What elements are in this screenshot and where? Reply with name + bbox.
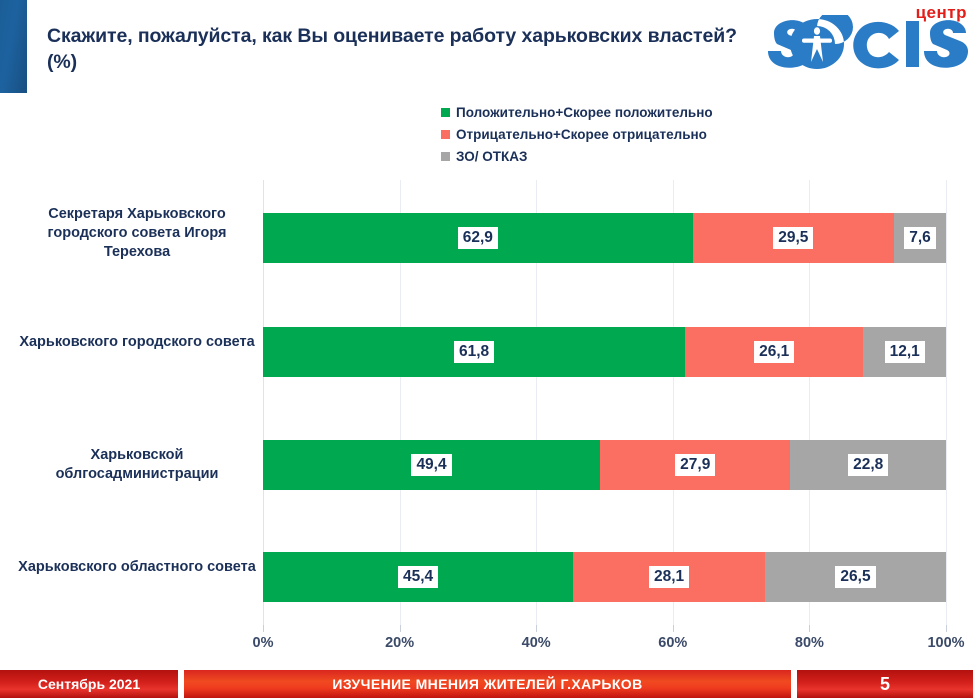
- x-tick-mark: [536, 625, 537, 632]
- decorative-accent-bar: [0, 0, 29, 93]
- footer-date: Сентябрь 2021: [0, 670, 178, 698]
- category-label-3: Харьковского областного совета: [18, 558, 256, 577]
- plot-area: 62,929,57,661,826,112,149,427,922,845,42…: [263, 180, 946, 625]
- slide-footer: Сентябрь 2021 ИЗУЧЕНИЕ МНЕНИЯ ЖИТЕЛЕЙ Г.…: [0, 668, 973, 700]
- x-tick-mark: [673, 625, 674, 632]
- bar-value-label: 29,5: [773, 227, 813, 249]
- x-tick-label: 80%: [795, 635, 824, 651]
- bar-value-label: 45,4: [398, 566, 438, 588]
- bar-value-label: 49,4: [411, 454, 451, 476]
- x-tick-label: 0%: [253, 635, 274, 651]
- category-axis-labels: Секретаря Харьковского городского совета…: [18, 180, 256, 625]
- page-title: Скажите, пожалуйста, как Вы оцениваете р…: [47, 24, 747, 76]
- bar-row: 61,826,112,1: [263, 327, 946, 377]
- legend-item-negative[interactable]: Отрицательно+Скорее отрицательно: [441, 124, 781, 145]
- bar-value-label: 26,1: [754, 341, 794, 363]
- legend-item-noanswer[interactable]: ЗО/ ОТКАЗ: [441, 146, 781, 167]
- x-tick-mark: [946, 625, 947, 632]
- bar-segment[interactable]: 26,5: [765, 552, 946, 602]
- footer-study-title: ИЗУЧЕНИЕ МНЕНИЯ ЖИТЕЛЕЙ Г.ХАРЬКОВ: [184, 670, 791, 698]
- slide-canvas: Скажите, пожалуйста, как Вы оцениваете р…: [0, 0, 973, 700]
- bar-value-label: 28,1: [649, 566, 689, 588]
- socis-logo: центр: [766, 2, 971, 74]
- bar-row: 49,427,922,8: [263, 440, 946, 490]
- x-tick-mark: [400, 625, 401, 632]
- legend-swatch-positive: [441, 108, 450, 117]
- bar-segment[interactable]: 28,1: [573, 552, 765, 602]
- legend-item-positive[interactable]: Положительно+Скорее положительно: [441, 102, 781, 123]
- bar-value-label: 7,6: [904, 227, 936, 249]
- bar-segment[interactable]: 61,8: [263, 327, 685, 377]
- bar-segment[interactable]: 26,1: [685, 327, 863, 377]
- legend-swatch-noanswer: [441, 152, 450, 161]
- bar-segment[interactable]: 7,6: [894, 213, 946, 263]
- bar-segment[interactable]: 45,4: [263, 552, 573, 602]
- bar-segment[interactable]: 49,4: [263, 440, 600, 490]
- legend-label-negative: Отрицательно+Скорее отрицательно: [456, 127, 707, 142]
- bar-segment[interactable]: 12,1: [863, 327, 946, 377]
- x-tick-label: 20%: [385, 635, 414, 651]
- bar-segment[interactable]: 62,9: [263, 213, 693, 263]
- bar-value-label: 22,8: [848, 454, 888, 476]
- legend-label-noanswer: ЗО/ ОТКАЗ: [456, 149, 527, 164]
- bar-value-label: 27,9: [675, 454, 715, 476]
- bar-value-label: 26,5: [835, 566, 875, 588]
- category-label-2: Харьковской облгосадминистрации: [18, 446, 256, 484]
- bar-segment[interactable]: 22,8: [790, 440, 946, 490]
- legend-swatch-negative: [441, 130, 450, 139]
- bar-row: 45,428,126,5: [263, 552, 946, 602]
- footer-page-number: 5: [797, 670, 973, 698]
- legend-label-positive: Положительно+Скорее положительно: [456, 105, 713, 120]
- x-axis: 0%20%40%60%80%100%: [263, 625, 946, 655]
- category-label-1: Харьковского городского совета: [18, 333, 256, 352]
- bar-segment[interactable]: 29,5: [693, 213, 894, 263]
- category-label-0: Секретаря Харьковского городского совета…: [18, 205, 256, 262]
- bar-row: 62,929,57,6: [263, 213, 946, 263]
- bar-value-label: 12,1: [885, 341, 925, 363]
- chart-legend: Положительно+Скорее положительно Отрицат…: [441, 102, 781, 168]
- bar-segment[interactable]: 27,9: [600, 440, 790, 490]
- bar-value-label: 62,9: [458, 227, 498, 249]
- gridline-100pct: [946, 180, 947, 625]
- logo-wordmark: [766, 15, 971, 73]
- bar-value-label: 61,8: [454, 341, 494, 363]
- x-tick-label: 60%: [658, 635, 687, 651]
- x-tick-mark: [263, 625, 264, 632]
- x-tick-label: 40%: [522, 635, 551, 651]
- x-tick-mark: [809, 625, 810, 632]
- x-tick-label: 100%: [927, 635, 964, 651]
